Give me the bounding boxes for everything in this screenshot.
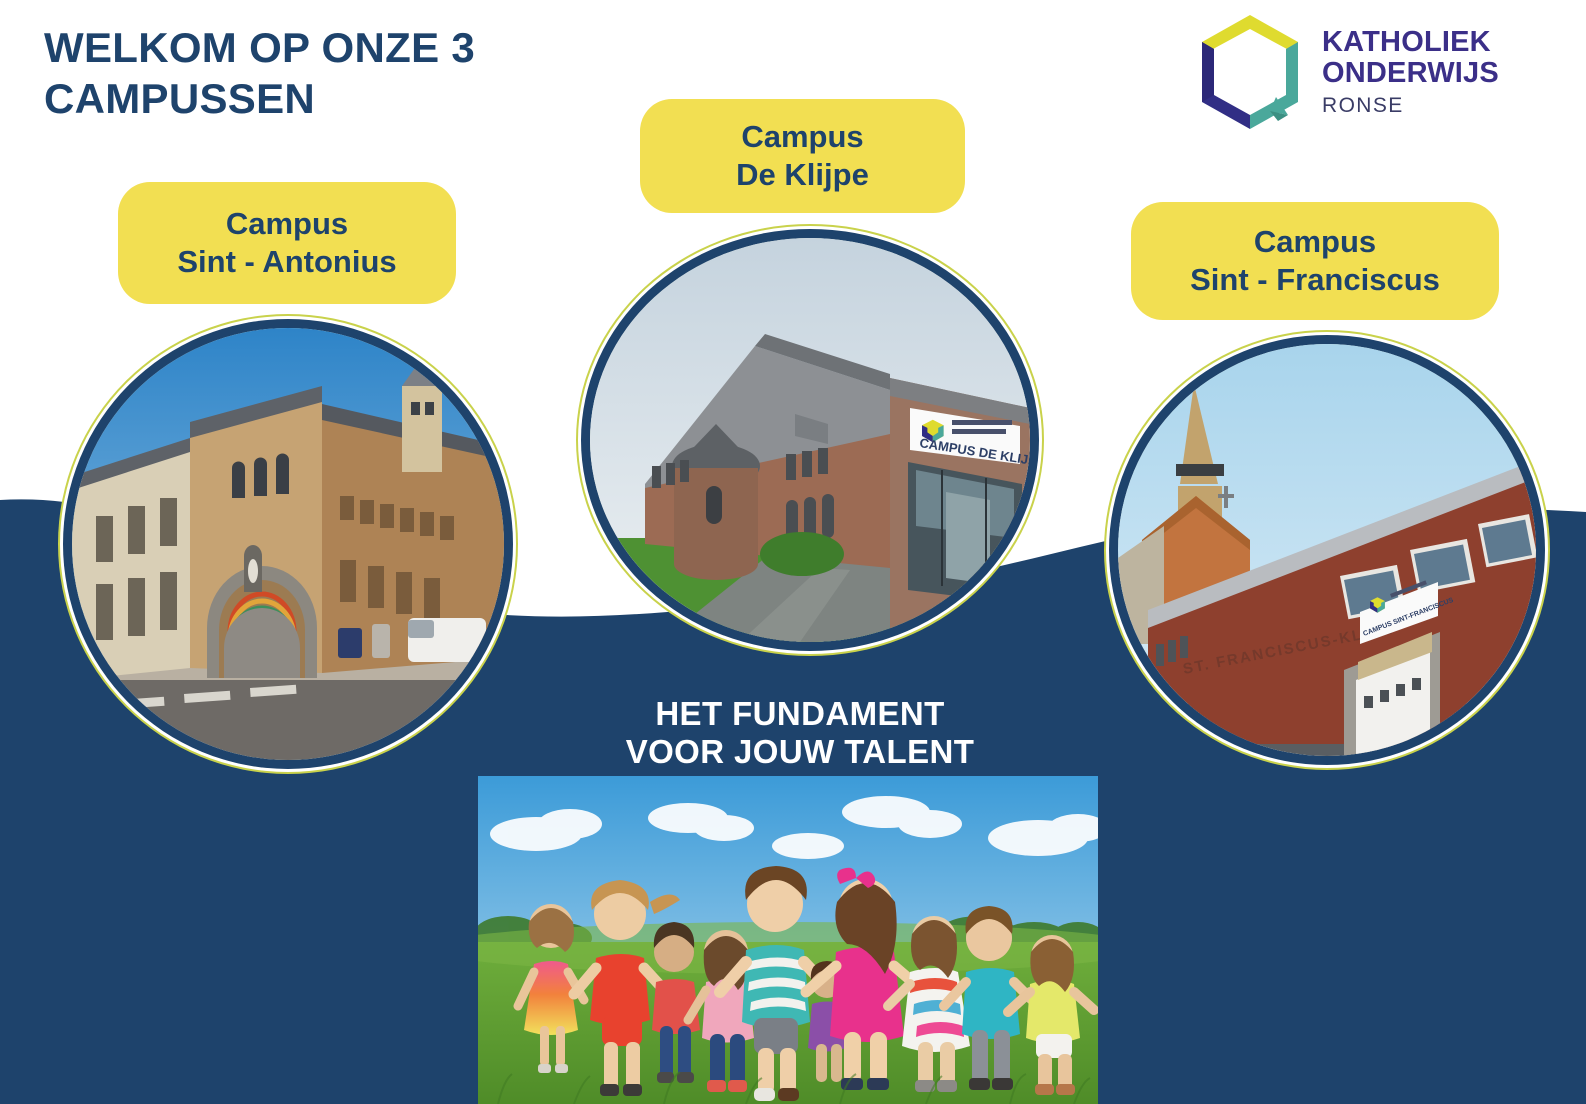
campus-label-line-1: Campus — [226, 205, 348, 243]
logo-line-3: RONSE — [1322, 95, 1499, 116]
photo-art-de-klijpe: CAMPUS DE KLIJPE — [590, 238, 1030, 642]
campus-label-de-klijpe[interactable]: Campus De Klijpe — [640, 99, 965, 213]
campus-label-sint-antonius[interactable]: Campus Sint - Antonius — [118, 182, 456, 304]
campus-photo-sint-franciscus: ST. FRANCISCUS-KLINE — [1118, 344, 1536, 756]
campus-label-sint-franciscus[interactable]: Campus Sint - Franciscus — [1131, 202, 1499, 320]
children-running-photo — [478, 776, 1098, 1104]
campus-photo-de-klijpe: CAMPUS DE KLIJPE — [590, 238, 1030, 642]
photo-art-sint-franciscus: ST. FRANCISCUS-KLINE — [1118, 344, 1536, 756]
campus-label-line-2: De Klijpe — [736, 156, 869, 194]
brand-logo: KATHOLIEK ONDERWIJS RONSE — [1192, 8, 1572, 136]
tagline-line-2: VOOR JOUW TALENT — [500, 733, 1100, 771]
campus-label-line-1: Campus — [1254, 223, 1376, 261]
campus-label-line-2: Sint - Antonius — [177, 243, 396, 281]
poster-root: WELKOM OP ONZE 3 CAMPUSSEN KATHOLIEK OND… — [0, 0, 1586, 1104]
page-title: WELKOM OP ONZE 3 CAMPUSSEN — [44, 22, 604, 124]
logo-line-2: ONDERWIJS — [1322, 59, 1499, 88]
campus-label-line-2: Sint - Franciscus — [1190, 261, 1440, 299]
photo-art-sint-antonius — [72, 328, 504, 760]
campus-label-line-1: Campus — [741, 118, 863, 156]
logo-line-1: KATHOLIEK — [1322, 28, 1499, 57]
campus-photo-sint-antonius — [72, 328, 504, 760]
tagline: HET FUNDAMENT VOOR JOUW TALENT — [500, 695, 1100, 770]
katholiek-onderwijs-hexagon-q-icon — [1192, 11, 1308, 133]
tagline-line-1: HET FUNDAMENT — [500, 695, 1100, 733]
